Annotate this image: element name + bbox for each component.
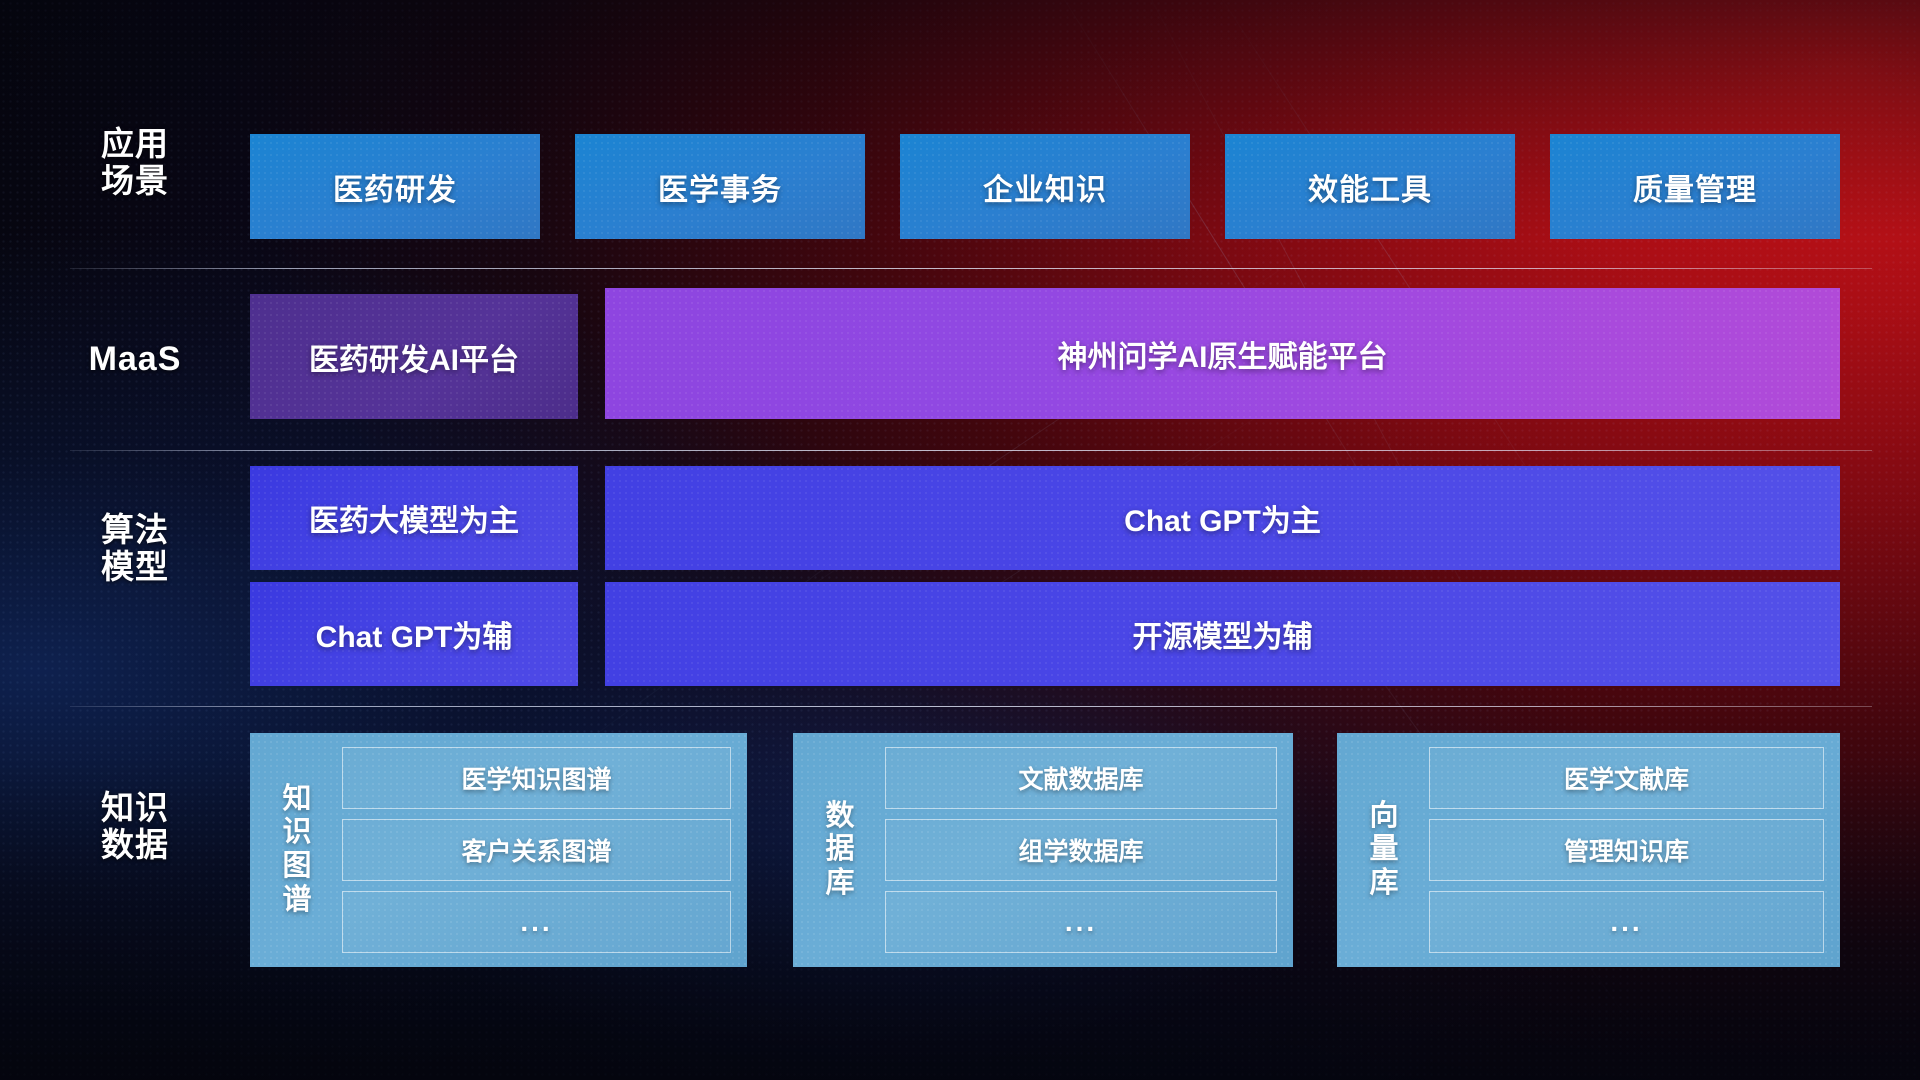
algo-card-opensource-aux-label: 开源模型为辅 — [1133, 612, 1313, 656]
divider-1 — [70, 268, 1872, 269]
knowledge-item[interactable]: 医学文献库 — [1429, 747, 1824, 809]
knowledge-item-more[interactable]: ... — [342, 891, 731, 953]
knowledge-panel-database[interactable]: 数 据 库 文献数据库 组学数据库 ... — [793, 733, 1293, 967]
knowledge-item[interactable]: 文献数据库 — [885, 747, 1277, 809]
knowledge-panel-vector[interactable]: 向 量 库 医学文献库 管理知识库 ... — [1337, 733, 1840, 967]
knowledge-panel-graph-items: 医学知识图谱 客户关系图谱 ... — [334, 747, 731, 953]
row-label-maas: MaaS — [70, 340, 200, 378]
architecture-diagram: 应用 场景 医药研发 医学事务 企业知识 效能工具 质量管理 MaaS 医药研发… — [0, 0, 1920, 1080]
algo-card-medical-main-label: 医药大模型为主 — [309, 496, 519, 540]
row-label-algorithm: 算法 模型 — [70, 512, 200, 586]
app-card-3[interactable]: 效能工具 — [1225, 134, 1515, 239]
knowledge-item[interactable]: 医学知识图谱 — [342, 747, 731, 809]
algo-card-chatgpt-aux[interactable]: Chat GPT为辅 — [250, 582, 578, 686]
slide-canvas: 应用 场景 医药研发 医学事务 企业知识 效能工具 质量管理 MaaS 医药研发… — [0, 0, 1920, 1080]
app-card-0[interactable]: 医药研发 — [250, 134, 540, 239]
knowledge-item[interactable]: 管理知识库 — [1429, 819, 1824, 881]
app-card-4-label: 质量管理 — [1633, 165, 1757, 209]
row-label-application: 应用 场景 — [70, 126, 200, 200]
app-card-1[interactable]: 医学事务 — [575, 134, 865, 239]
maas-card-platform-label: 医药研发AI平台 — [309, 335, 519, 379]
knowledge-panel-vector-title: 向 量 库 — [1347, 747, 1421, 953]
knowledge-item[interactable]: 客户关系图谱 — [342, 819, 731, 881]
app-card-1-label: 医学事务 — [658, 165, 782, 209]
algo-card-chatgpt-main[interactable]: Chat GPT为主 — [605, 466, 1840, 570]
algo-card-opensource-aux[interactable]: 开源模型为辅 — [605, 582, 1840, 686]
divider-3 — [70, 706, 1872, 707]
app-card-0-label: 医药研发 — [333, 165, 457, 209]
knowledge-panel-database-title: 数 据 库 — [803, 747, 877, 953]
maas-card-wenxue-label: 神州问学AI原生赋能平台 — [1058, 332, 1388, 376]
knowledge-panel-vector-items: 医学文献库 管理知识库 ... — [1421, 747, 1824, 953]
knowledge-item-more[interactable]: ... — [885, 891, 1277, 953]
algo-card-chatgpt-aux-label: Chat GPT为辅 — [316, 612, 513, 656]
maas-card-wenxue[interactable]: 神州问学AI原生赋能平台 — [605, 288, 1840, 419]
app-card-2[interactable]: 企业知识 — [900, 134, 1190, 239]
algo-card-medical-main[interactable]: 医药大模型为主 — [250, 466, 578, 570]
app-card-3-label: 效能工具 — [1308, 165, 1432, 209]
algo-card-chatgpt-main-label: Chat GPT为主 — [1124, 496, 1321, 540]
maas-card-platform[interactable]: 医药研发AI平台 — [250, 294, 578, 419]
knowledge-panel-database-items: 文献数据库 组学数据库 ... — [877, 747, 1277, 953]
knowledge-panel-graph[interactable]: 知 识 图 谱 医学知识图谱 客户关系图谱 ... — [250, 733, 747, 967]
app-card-4[interactable]: 质量管理 — [1550, 134, 1840, 239]
knowledge-item-more[interactable]: ... — [1429, 891, 1824, 953]
app-card-2-label: 企业知识 — [983, 165, 1107, 209]
divider-2 — [70, 450, 1872, 451]
knowledge-item[interactable]: 组学数据库 — [885, 819, 1277, 881]
knowledge-panel-graph-title: 知 识 图 谱 — [260, 747, 334, 953]
row-label-knowledge: 知识 数据 — [70, 790, 200, 864]
